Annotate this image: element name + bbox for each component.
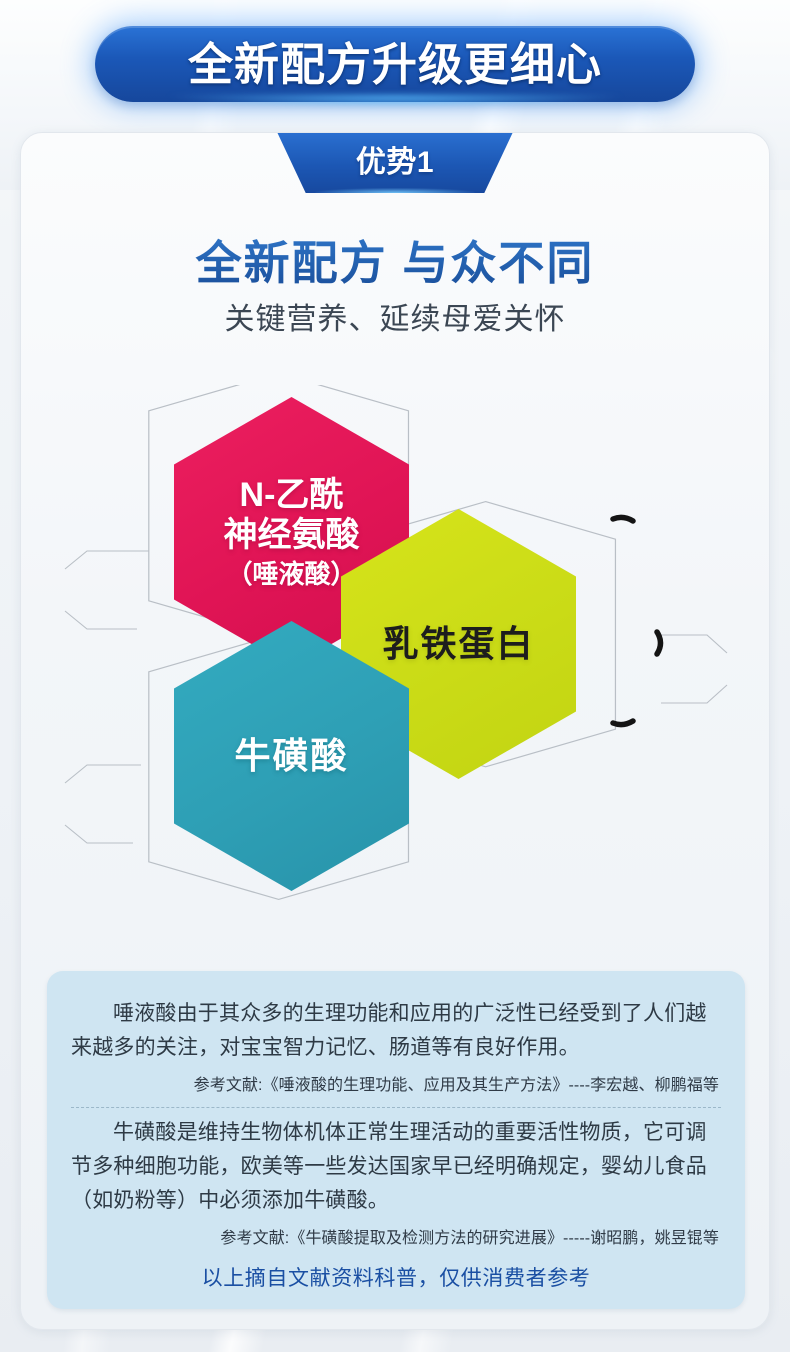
info-paragraph-1: 唾液酸由于其众多的生理功能和应用的广泛性已经受到了人们越来越多的关注，对宝宝智力… [71, 997, 721, 1065]
info-citation-1: 参考文献:《唾液酸的生理功能、应用及其生产方法》----李宏越、柳鹏福等 [71, 1071, 721, 1095]
ingredient-hexagon-cluster: N-乙酰 神经氨酸 （唾液酸） 乳铁蛋白 牛磺酸 [21, 385, 770, 951]
top-banner-container: 全新配方升级更细心 [0, 26, 790, 102]
hexagon-label-line1: N-乙酰 [240, 476, 344, 514]
advantage-tab: 优势1 [278, 133, 513, 193]
advantage-tab-label: 优势1 [356, 148, 434, 178]
hexagon-label-line2: 神经氨酸 [224, 516, 360, 554]
hexagon-label: N-乙酰 神经氨酸 （唾液酸） [216, 475, 368, 590]
page-title: 全新配方 与众不同 [21, 237, 769, 290]
reference-info-panel: 唾液酸由于其众多的生理功能和应用的广泛性已经受到了人们越来越多的关注，对宝宝智力… [47, 971, 745, 1309]
info-citation-2: 参考文献:《牛磺酸提取及检测方法的研究进展》-----谢昭鹏，姚昱锟等 [71, 1224, 721, 1248]
advantage-card: 优势1 全新配方 与众不同 关键营养、延续母爱关怀 [20, 132, 770, 1330]
info-footnote: 以上摘自文献资料科普，仅供消费者参考 [71, 1262, 721, 1292]
card-headings: 全新配方 与众不同 关键营养、延续母爱关怀 [21, 237, 769, 338]
info-paragraph-2: 牛磺酸是维持生物体机体正常生理活动的重要活性物质，它可调节多种细胞功能，欧美等一… [71, 1116, 721, 1218]
info-divider [71, 1107, 721, 1108]
top-banner: 全新配方升级更细心 [95, 26, 695, 102]
banner-title: 全新配方升级更细心 [188, 42, 602, 87]
hexagon-label: 乳铁蛋白 [374, 623, 542, 665]
hexagon-label: 牛磺酸 [226, 735, 356, 777]
hexagon-label-alias: （唾液酸） [224, 559, 360, 590]
page-subtitle: 关键营养、延续母爱关怀 [21, 302, 769, 338]
